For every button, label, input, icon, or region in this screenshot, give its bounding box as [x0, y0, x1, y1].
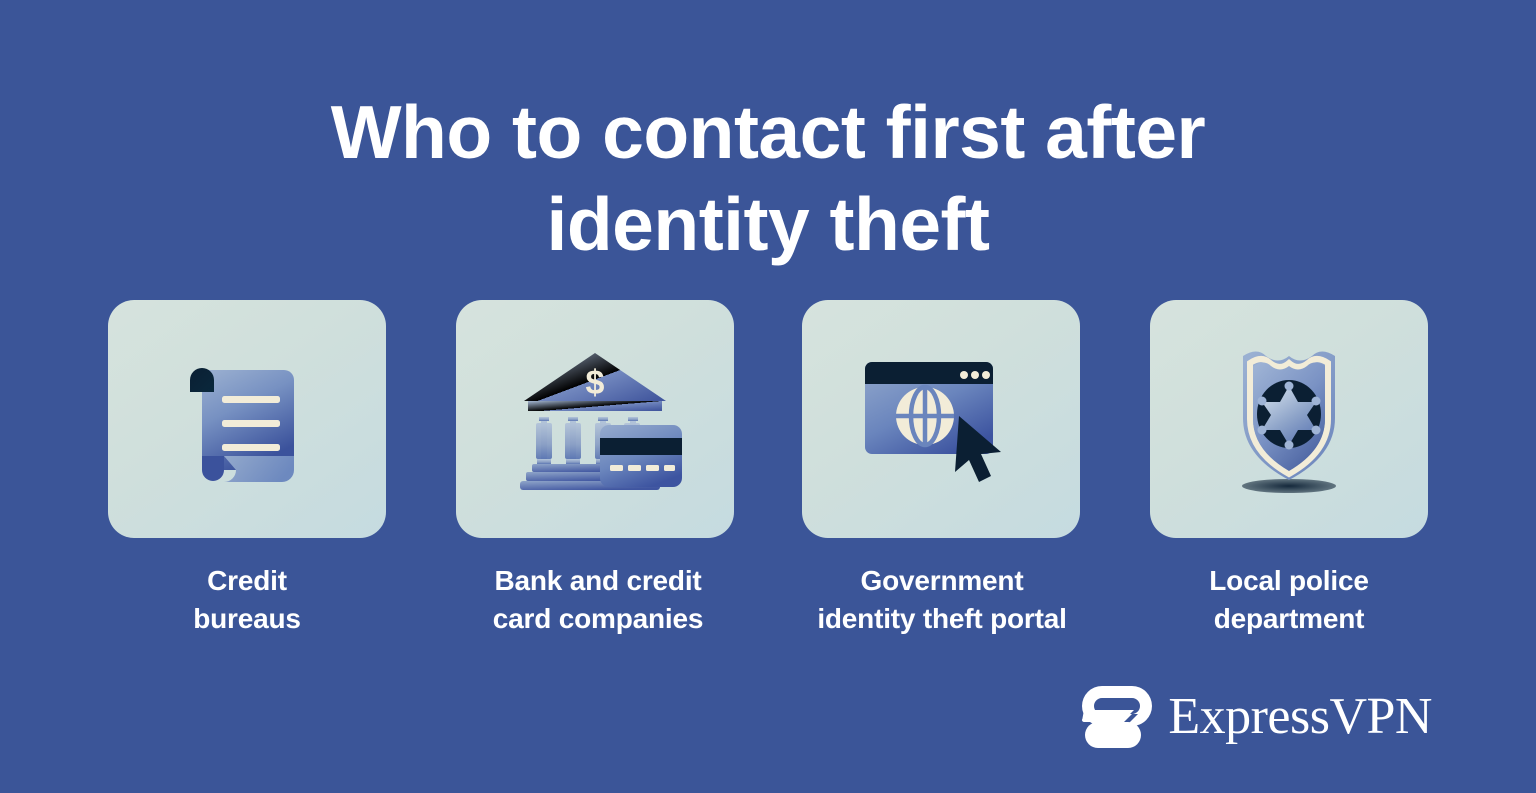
label-line-2: identity theft portal	[817, 603, 1066, 634]
browser-globe-cursor-icon	[802, 300, 1080, 538]
icon-card-tile	[1150, 300, 1428, 538]
svg-text:$: $	[586, 364, 605, 402]
brand-logo: ExpressVPN	[1076, 684, 1432, 750]
scroll-document-icon	[108, 300, 386, 538]
icon-card-tile	[108, 300, 386, 538]
page-title-line-1: Who to contact first after	[0, 86, 1536, 178]
bank-and-credit-card-icon: $	[456, 300, 734, 538]
icon-card-label-credit-bureaus: Credit bureaus	[97, 562, 397, 638]
label-line-1: Government	[861, 565, 1024, 596]
infographic-root: Who to contact first after identity thef…	[0, 0, 1536, 793]
icon-card-tile: $	[456, 300, 734, 538]
page-title: Who to contact first after identity thef…	[0, 86, 1536, 270]
brand-name: ExpressVPN	[1168, 691, 1432, 743]
icon-card-tile	[802, 300, 1080, 538]
label-line-2: card companies	[493, 603, 703, 634]
icon-card-credit-bureaus	[108, 300, 386, 538]
label-line-2: bureaus	[193, 603, 301, 634]
police-badge-shield-icon	[1150, 300, 1428, 538]
icon-card-local-police	[1150, 300, 1428, 538]
icon-card-label-bank-credit: Bank and credit card companies	[433, 562, 763, 638]
icon-card-bank-credit: $	[456, 300, 734, 538]
icon-card-government-portal	[802, 300, 1080, 538]
expressvpn-logo-mark	[1076, 684, 1154, 750]
icon-card-label-government-portal: Government identity theft portal	[777, 562, 1107, 638]
label-line-1: Local police	[1209, 565, 1368, 596]
icon-card-label-local-police: Local police department	[1139, 562, 1439, 638]
icon-card-row: $	[0, 300, 1536, 545]
label-line-2: department	[1214, 603, 1364, 634]
label-line-1: Credit	[207, 565, 287, 596]
label-line-1: Bank and credit	[494, 565, 701, 596]
icon-card-label-row: Credit bureaus Bank and credit card comp…	[0, 562, 1536, 642]
page-title-line-2: identity theft	[0, 178, 1536, 270]
